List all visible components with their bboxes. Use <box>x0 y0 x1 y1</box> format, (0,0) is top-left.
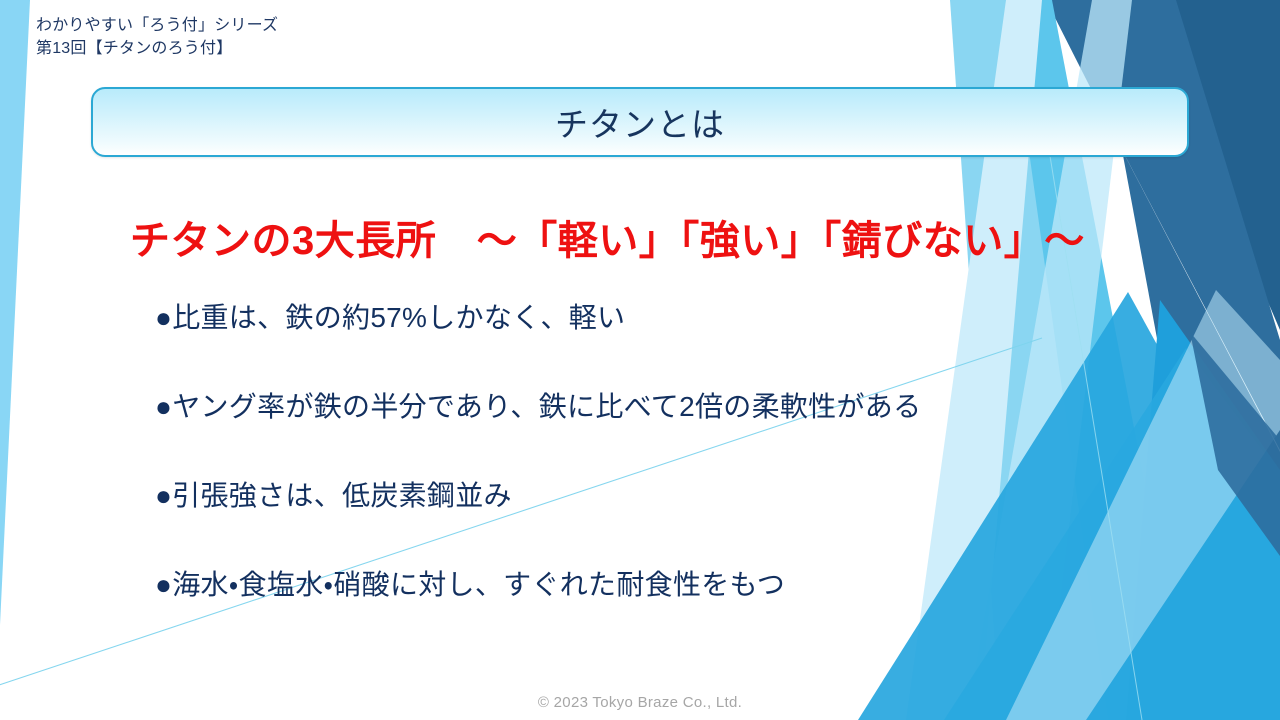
bullet-item-2: ●ヤング率が鉄の半分であり、鉄に比べて2倍の柔軟性がある <box>155 385 1155 425</box>
footer-copyright: © 2023 Tokyo Braze Co., Ltd. <box>0 694 1280 711</box>
bullet-list: ●比重は、鉄の約57%しかなく、軽い ●ヤング率が鉄の半分であり、鉄に比べて2倍… <box>155 296 1155 603</box>
header-line-2: 第13回【チタンのろう付】 <box>36 37 278 60</box>
page-title: チタンとは <box>555 98 725 146</box>
title-banner: チタンとは <box>91 87 1189 157</box>
header-series-text: わかりやすい「ろう付」シリーズ 第13回【チタンのろう付】 <box>36 14 278 60</box>
decor-poly-dark-right <box>1168 0 1280 330</box>
bullet-item-4: ●海水・食塩水・硝酸に対し、すぐれた耐食性をもつ <box>155 563 1155 603</box>
decor-poly-dark-wedge-lower <box>1190 332 1280 556</box>
decor-left-wedge <box>0 0 30 625</box>
section-heading-red: チタンの3大長所 ～「軽い」「強い」「錆びない」～ <box>130 208 1085 266</box>
slide-canvas: わかりやすい「ろう付」シリーズ 第13回【チタンのろう付】 チタンとは チタンの… <box>0 0 1280 720</box>
bullet-item-1: ●比重は、鉄の約57%しかなく、軽い <box>155 296 1155 336</box>
header-line-1: わかりやすい「ろう付」シリーズ <box>36 14 278 37</box>
bullet-item-3: ●引張強さは、低炭素鋼並み <box>155 474 1155 514</box>
